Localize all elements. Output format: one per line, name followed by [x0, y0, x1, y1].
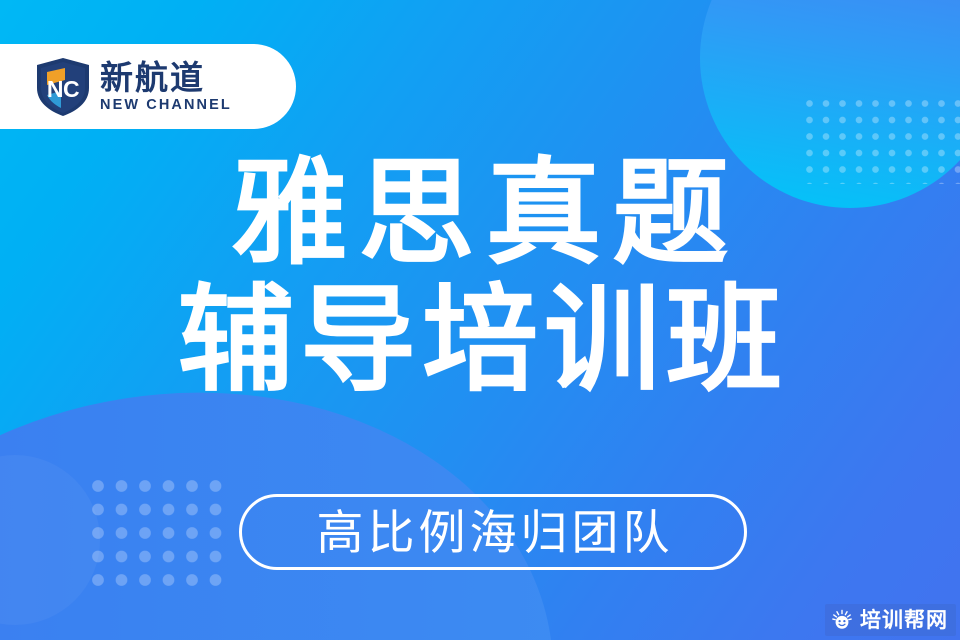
brand-name-en: NEW CHANNEL — [100, 97, 232, 114]
sun-face-icon — [831, 609, 853, 631]
headline-line-2: 辅导培训班 — [0, 273, 960, 408]
headline-line-1: 雅思真题 — [0, 146, 960, 281]
watermark-badge: 培训帮网 — [825, 604, 956, 636]
brand-wordmark: 新航道 NEW CHANNEL — [100, 59, 232, 113]
subtitle-pill: 高比例海归团队 — [239, 494, 747, 570]
brand-name-cn: 新航道 — [100, 61, 232, 95]
decorative-circle-left-edge — [0, 455, 100, 625]
decorative-dot-grid-bottom-left — [92, 480, 224, 590]
brand-logo-badge: NC 新航道 NEW CHANNEL — [0, 44, 296, 129]
subtitle-text: 高比例海归团队 — [313, 509, 674, 556]
headline-block: 雅思真题 辅导培训班 — [0, 146, 960, 407]
poster-canvas: NC 新航道 NEW CHANNEL 雅思真题 辅导培训班 高比例海归团队 — [0, 0, 960, 640]
svg-text:NC: NC — [47, 76, 79, 102]
shield-icon: NC — [35, 57, 91, 117]
watermark-text: 培训帮网 — [860, 610, 948, 631]
